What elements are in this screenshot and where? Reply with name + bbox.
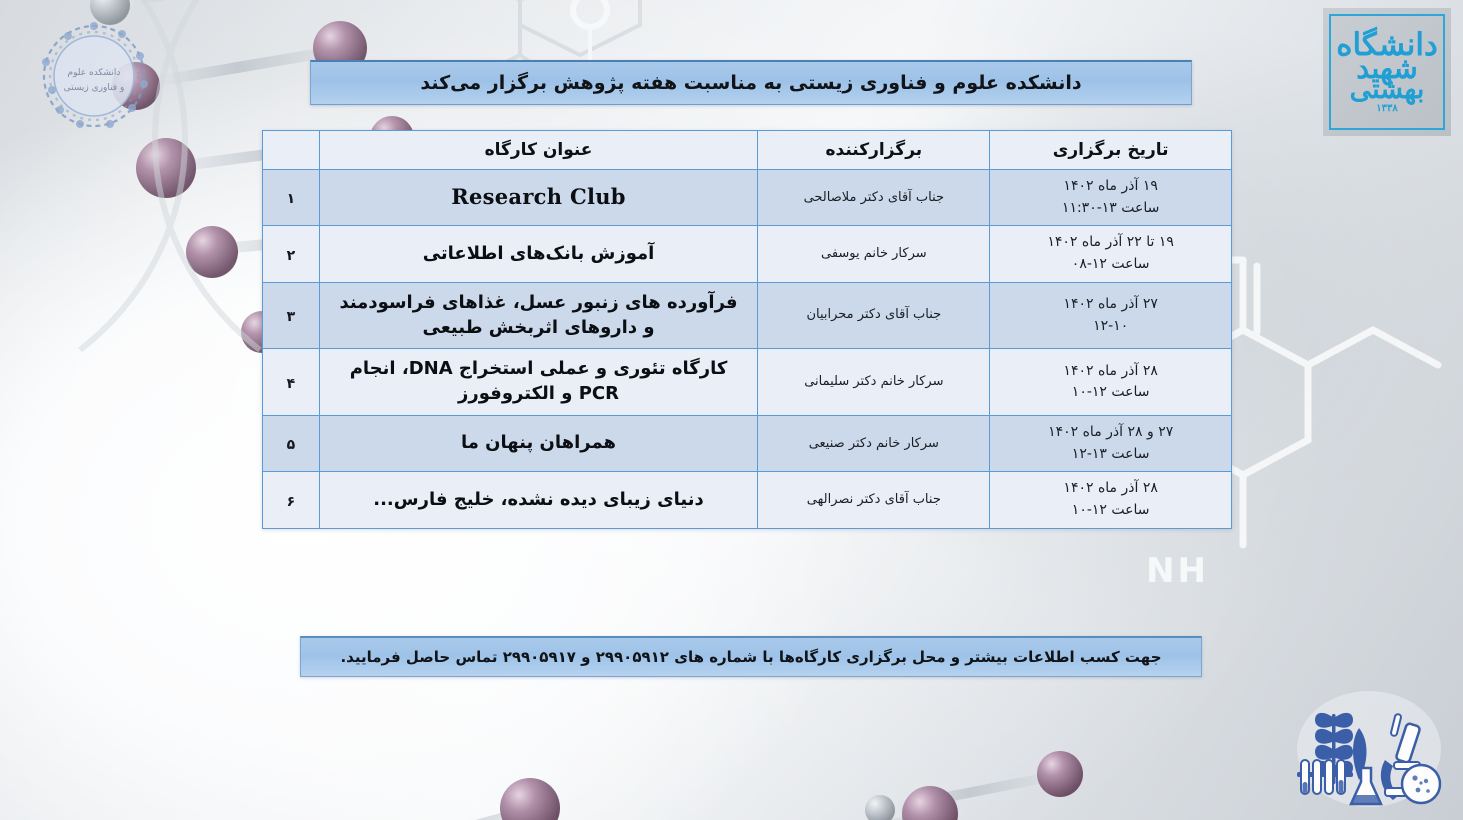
cell-host: جناب آقای دکتر ملاصالحی <box>758 170 990 226</box>
cell-date-text: ۲۷ آذر ماه ۱۴۰۲۱۲-۱۰ <box>990 288 1231 343</box>
petri-dish-icon <box>1402 765 1440 803</box>
header-label-date: تاریخ برگزاری <box>1053 140 1169 160</box>
test-tubes-icon <box>1297 760 1353 794</box>
date-line-2: ساعت ۱۲-۰۸ <box>998 254 1223 276</box>
cell-date: ۲۷ آذر ماه ۱۴۰۲۱۲-۱۰ <box>990 282 1232 349</box>
cell-title-text: Research Club <box>320 175 758 220</box>
faculty-seal-line1: دانشکده علوم <box>14 66 174 81</box>
cell-date: ۲۷ و ۲۸ آذر ماه ۱۴۰۲ساعت ۱۳-۱۲ <box>990 416 1232 472</box>
table-row: ۲۸ آذر ماه ۱۴۰۲ساعت ۱۲-۱۰سرکار خانم دکتر… <box>263 349 1232 416</box>
cell-title-text: دنیای زیبای دیده نشده، خلیج فارس... <box>320 480 758 521</box>
biotech-illustration <box>1289 684 1449 814</box>
cell-number-text: ۱ <box>287 191 296 207</box>
cell-title-text: فرآورده های زنبور عسل، غذاهای فراسودمند … <box>320 283 758 349</box>
date-line-1: ۱۹ آذر ماه ۱۴۰۲ <box>1063 178 1157 194</box>
cell-title: آموزش بانک‌های اطلاعاتی <box>319 226 758 282</box>
university-logo: دانشگاه شهید بهشتی ۱۳۳۸ <box>1323 8 1451 136</box>
cell-host-text: سرکار خانم دکتر صنیعی <box>758 429 989 459</box>
cell-number: ۶ <box>263 472 320 528</box>
header-cell-host: برگزارکننده <box>758 131 990 170</box>
cell-date: ۱۹ تا ۲۲ آذر ماه ۱۴۰۲ساعت ۱۲-۰۸ <box>990 226 1232 282</box>
workshops-table-head: تاریخ برگزاری برگزارکننده عنوان کارگاه <box>263 131 1232 170</box>
cell-number: ۴ <box>263 349 320 416</box>
cell-title: همراهان پنهان ما <box>319 416 758 472</box>
table-row: ۱۹ آذر ماه ۱۴۰۲ساعت ۱۳-۱۱:۳۰جناب آقای دک… <box>263 170 1232 226</box>
header-label-title: عنوان کارگاه <box>485 140 593 160</box>
date-line-1: ۱۹ تا ۲۲ آذر ماه ۱۴۰۲ <box>1047 234 1174 250</box>
cell-number-text: ۶ <box>287 494 296 510</box>
university-logo-line3: بهشتی <box>1336 78 1438 103</box>
cell-title-text: کارگاه تئوری و عملی استخراج DNA، انجام P… <box>320 349 758 415</box>
table-header-row: تاریخ برگزاری برگزارکننده عنوان کارگاه <box>263 131 1232 170</box>
table-row: ۲۷ آذر ماه ۱۴۰۲۱۲-۱۰جناب آقای دکتر محراب… <box>263 282 1232 349</box>
contact-banner-text: جهت کسب اطلاعات بیشتر و محل برگزاری کارگ… <box>340 648 1161 666</box>
table-row: ۲۸ آذر ماه ۱۴۰۲ساعت ۱۲-۱۰جناب آقای دکتر … <box>263 472 1232 528</box>
cell-host: جناب آقای دکتر نصرالهی <box>758 472 990 528</box>
cell-number: ۱ <box>263 170 320 226</box>
date-line-2: ساعت ۱۲-۱۰ <box>998 382 1223 404</box>
cell-date-text: ۲۸ آذر ماه ۱۴۰۲ساعت ۱۲-۱۰ <box>990 355 1231 410</box>
cell-host-text: جناب آقای دکتر نصرالهی <box>758 485 989 515</box>
table-row: ۲۷ و ۲۸ آذر ماه ۱۴۰۲ساعت ۱۳-۱۲سرکار خانم… <box>263 416 1232 472</box>
cell-date: ۱۹ آذر ماه ۱۴۰۲ساعت ۱۳-۱۱:۳۰ <box>990 170 1232 226</box>
workshops-table: تاریخ برگزاری برگزارکننده عنوان کارگاه ۱… <box>262 130 1232 529</box>
date-line-1: ۲۷ و ۲۸ آذر ماه ۱۴۰۲ <box>1048 424 1173 440</box>
biotech-icons <box>1289 684 1449 814</box>
cell-number-text: ۲ <box>287 248 296 264</box>
cell-title-text: همراهان پنهان ما <box>320 423 758 464</box>
date-line-2: ساعت ۱۲-۱۰ <box>998 500 1223 522</box>
cell-host: جناب آقای دکتر محرابیان <box>758 282 990 349</box>
date-line-2: ۱۲-۱۰ <box>998 316 1223 338</box>
cell-date-text: ۱۹ تا ۲۲ آذر ماه ۱۴۰۲ساعت ۱۲-۰۸ <box>990 226 1231 281</box>
cell-host-text: جناب آقای دکتر ملاصالحی <box>758 183 989 213</box>
cell-title: کارگاه تئوری و عملی استخراج DNA، انجام P… <box>319 349 758 416</box>
cell-number: ۳ <box>263 282 320 349</box>
faculty-seal-logo: دانشکده علوم و فناوری زیستی <box>14 18 174 142</box>
university-logo-year: ۱۳۳۸ <box>1336 104 1438 113</box>
cell-number-text: ۵ <box>287 437 296 453</box>
cell-number: ۲ <box>263 226 320 282</box>
date-line-1: ۲۷ آذر ماه ۱۴۰۲ <box>1063 296 1157 312</box>
cell-host-text: سرکار خانم دکتر سلیمانی <box>758 367 989 397</box>
svg-text:NH: NH <box>1146 551 1209 591</box>
cell-host: سرکار خانم دکتر سلیمانی <box>758 349 990 416</box>
faculty-seal-line2: و فناوری زیستی <box>14 81 174 96</box>
faculty-seal-text: دانشکده علوم و فناوری زیستی <box>14 66 174 96</box>
cell-host: سرکار خانم دکتر صنیعی <box>758 416 990 472</box>
cell-number-text: ۳ <box>287 309 296 325</box>
cell-title-text: آموزش بانک‌های اطلاعاتی <box>320 234 758 275</box>
date-line-2: ساعت ۱۳-۱۱:۳۰ <box>998 198 1223 220</box>
header-cell-title: عنوان کارگاه <box>319 131 758 170</box>
title-banner: دانشکده علوم و فناوری زیستی به مناسبت هف… <box>310 60 1192 105</box>
cell-date-text: ۲۷ و ۲۸ آذر ماه ۱۴۰۲ساعت ۱۳-۱۲ <box>990 416 1231 471</box>
header-cell-date: تاریخ برگزاری <box>990 131 1232 170</box>
contact-banner: جهت کسب اطلاعات بیشتر و محل برگزاری کارگ… <box>300 636 1202 677</box>
cell-host-text: سرکار خانم یوسفی <box>758 239 989 269</box>
university-logo-frame: دانشگاه شهید بهشتی ۱۳۳۸ <box>1329 14 1445 130</box>
cell-host: سرکار خانم یوسفی <box>758 226 990 282</box>
date-line-1: ۲۸ آذر ماه ۱۴۰۲ <box>1063 363 1157 379</box>
cell-date: ۲۸ آذر ماه ۱۴۰۲ساعت ۱۲-۱۰ <box>990 472 1232 528</box>
table-row: ۱۹ تا ۲۲ آذر ماه ۱۴۰۲ساعت ۱۲-۰۸سرکار خان… <box>263 226 1232 282</box>
cell-title: دنیای زیبای دیده نشده، خلیج فارس... <box>319 472 758 528</box>
workshops-table-body: ۱۹ آذر ماه ۱۴۰۲ساعت ۱۳-۱۱:۳۰جناب آقای دک… <box>263 170 1232 529</box>
title-banner-text: دانشکده علوم و فناوری زیستی به مناسبت هف… <box>420 72 1081 94</box>
cell-number: ۵ <box>263 416 320 472</box>
header-label-host: برگزارکننده <box>826 140 923 160</box>
cell-date-text: ۲۸ آذر ماه ۱۴۰۲ساعت ۱۲-۱۰ <box>990 472 1231 527</box>
cell-host-text: جناب آقای دکتر محرابیان <box>758 300 989 330</box>
cell-title: Research Club <box>319 170 758 226</box>
university-logo-calligraphy: دانشگاه شهید بهشتی ۱۳۳۸ <box>1336 31 1438 113</box>
cell-title: فرآورده های زنبور عسل، غذاهای فراسودمند … <box>319 282 758 349</box>
cell-number-text: ۴ <box>287 376 296 392</box>
header-cell-number <box>263 131 320 170</box>
cell-date: ۲۸ آذر ماه ۱۴۰۲ساعت ۱۲-۱۰ <box>990 349 1232 416</box>
date-line-2: ساعت ۱۳-۱۲ <box>998 444 1223 466</box>
date-line-1: ۲۸ آذر ماه ۱۴۰۲ <box>1063 480 1157 496</box>
dna-helix-lower-decoration <box>230 560 1130 820</box>
cell-date-text: ۱۹ آذر ماه ۱۴۰۲ساعت ۱۳-۱۱:۳۰ <box>990 170 1231 225</box>
